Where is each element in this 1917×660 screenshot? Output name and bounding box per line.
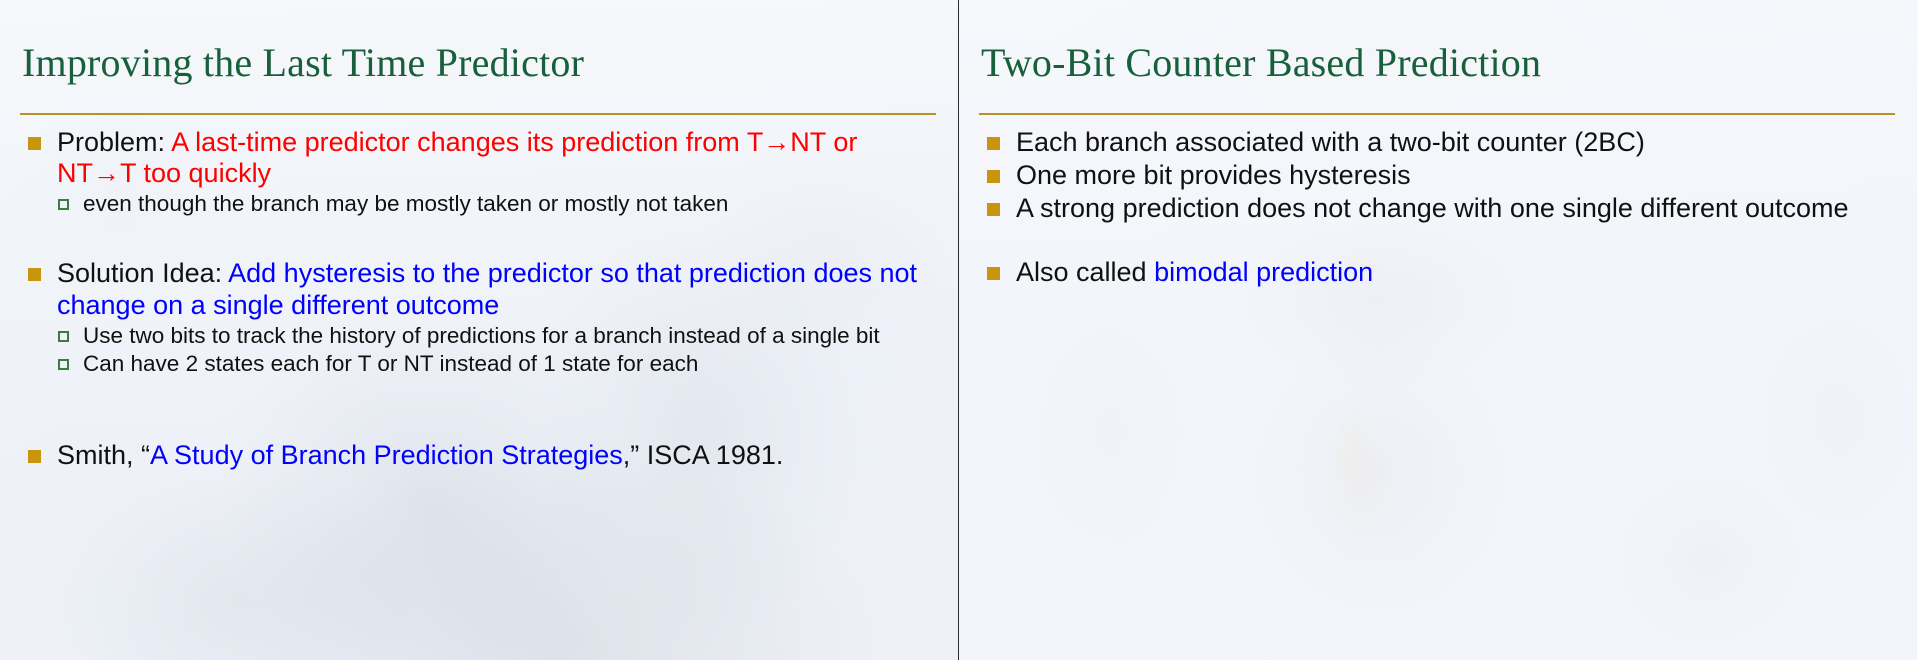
text-run: even though the branch may be mostly tak…: [83, 191, 728, 216]
bullet-item: Problem: A last-time predictor changes i…: [20, 127, 940, 190]
bullet-text: Each branch associated with a two-bit co…: [1016, 127, 1899, 158]
bullet-text: One more bit provides hysteresis: [1016, 160, 1899, 191]
text-run: A Study of Branch Prediction Strategies: [150, 440, 623, 470]
bullet-item: Each branch associated with a two-bit co…: [979, 127, 1899, 158]
slide-two-bit-counter-based-prediction: Two-Bit Counter Based Prediction Each br…: [958, 0, 1917, 660]
text-run: A strong prediction does not change with…: [1016, 193, 1849, 223]
bullet-item: Also called bimodal prediction: [979, 257, 1899, 288]
text-run: Also called: [1016, 257, 1154, 287]
text-run: Can have 2 states each for T or NT inste…: [83, 351, 698, 376]
text-run: A last-time predictor changes its predic…: [57, 127, 857, 188]
text-run: bimodal prediction: [1154, 257, 1373, 287]
square-bullet-icon: [987, 267, 1000, 280]
slide-content-right: Two-Bit Counter Based Prediction Each br…: [959, 27, 1917, 660]
hollow-square-bullet-icon: [58, 331, 69, 342]
square-bullet-icon: [987, 137, 1000, 150]
hollow-square-bullet-icon: [58, 199, 69, 210]
bullet-item: Solution Idea: Add hysteresis to the pre…: [20, 258, 940, 321]
square-bullet-icon: [28, 137, 41, 150]
square-bullet-icon: [28, 450, 41, 463]
text-run: Each branch associated with a two-bit co…: [1016, 127, 1645, 157]
page-title: Improving the Last Time Predictor: [0, 27, 958, 86]
bullet-text: Smith, “A Study of Branch Prediction Str…: [57, 440, 940, 471]
text-run: Solution Idea:: [57, 258, 228, 288]
bullet-text: Also called bimodal prediction: [1016, 257, 1899, 288]
bullet-spacer: [979, 227, 1899, 257]
square-bullet-icon: [987, 170, 1000, 183]
bullet-text: Problem: A last-time predictor changes i…: [57, 127, 940, 190]
sub-bullet-item: even though the branch may be mostly tak…: [20, 190, 940, 217]
bullet-item: Smith, “A Study of Branch Prediction Str…: [20, 440, 940, 471]
square-bullet-icon: [28, 268, 41, 281]
bullet-item: A strong prediction does not change with…: [979, 193, 1899, 224]
text-run: Problem:: [57, 127, 171, 157]
bullet-item: One more bit provides hysteresis: [979, 160, 1899, 191]
bullet-list-right: Each branch associated with a two-bit co…: [959, 115, 1917, 288]
slide-improving-the-last-time-predictor: Improving the Last Time Predictor Proble…: [0, 0, 958, 660]
page-title: Two-Bit Counter Based Prediction: [959, 27, 1917, 86]
bullet-text: Solution Idea: Add hysteresis to the pre…: [57, 258, 940, 321]
text-run: ,” ISCA 1981.: [623, 440, 784, 470]
hollow-square-bullet-icon: [58, 359, 69, 370]
bullet-text: Can have 2 states each for T or NT inste…: [83, 350, 940, 377]
text-run: Use two bits to track the history of pre…: [83, 323, 880, 348]
bullet-spacer: [20, 378, 940, 440]
bullet-text: Use two bits to track the history of pre…: [83, 322, 940, 349]
slide-deck: Improving the Last Time Predictor Proble…: [0, 0, 1917, 660]
bullet-spacer: [20, 218, 940, 258]
bullet-text: A strong prediction does not change with…: [1016, 193, 1899, 224]
text-run: One more bit provides hysteresis: [1016, 160, 1411, 190]
slide-content-left: Improving the Last Time Predictor Proble…: [0, 27, 958, 660]
sub-bullet-item: Can have 2 states each for T or NT inste…: [20, 350, 940, 377]
sub-bullet-item: Use two bits to track the history of pre…: [20, 322, 940, 349]
square-bullet-icon: [987, 203, 1000, 216]
bullet-text: even though the branch may be mostly tak…: [83, 190, 940, 217]
text-run: Smith, “: [57, 440, 150, 470]
bullet-list-left: Problem: A last-time predictor changes i…: [0, 115, 958, 472]
